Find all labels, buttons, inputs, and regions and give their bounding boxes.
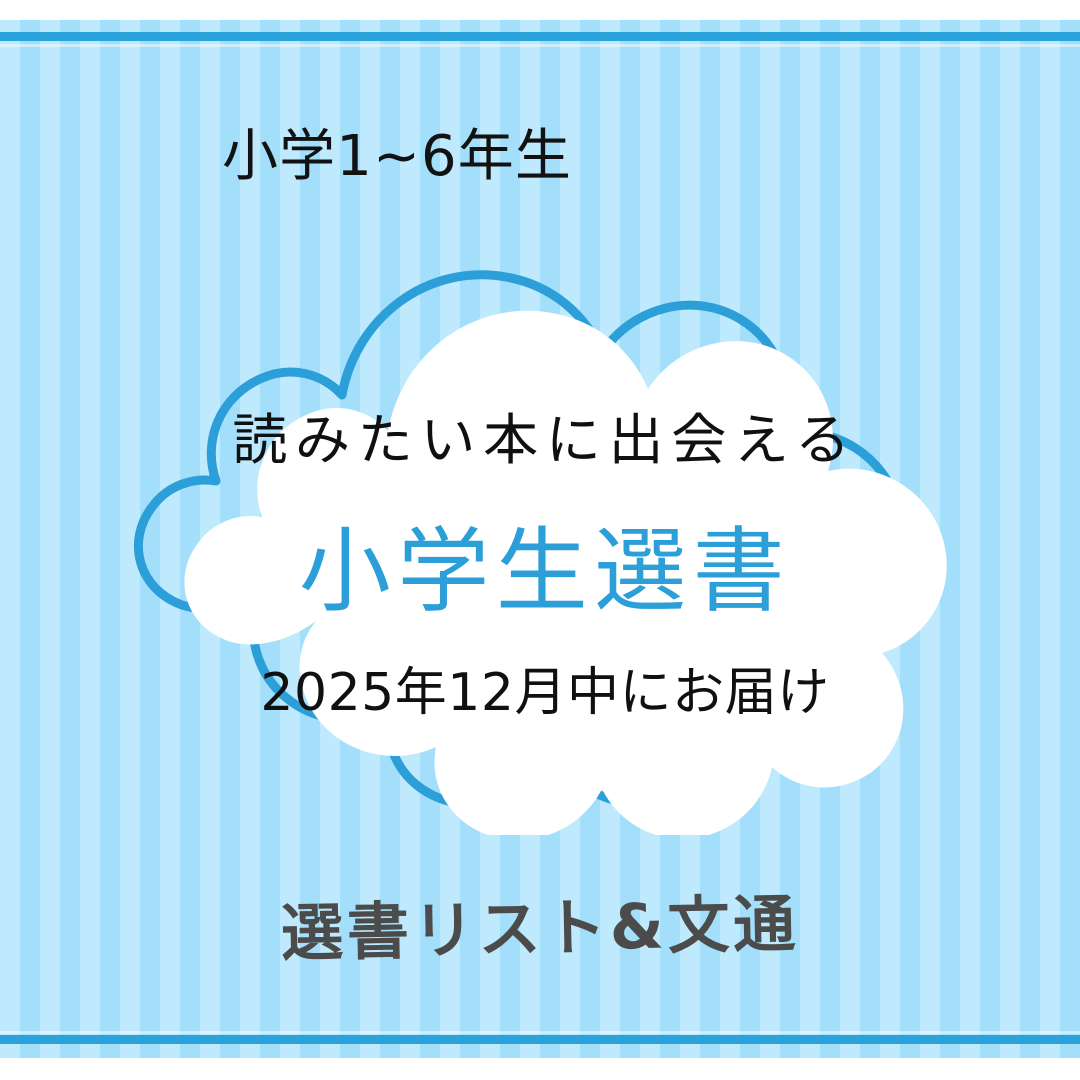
top-accent-hairline — [0, 44, 1080, 47]
bottom-accent-hairline — [0, 1031, 1080, 1034]
grade-range-eyebrow: 小学1~6年生 — [222, 126, 572, 188]
cloud-banner: 読みたい本に出会える 小学生選書 2025年12月中にお届け — [120, 245, 970, 835]
top-accent-rule — [0, 32, 1080, 41]
cloud-graphic — [120, 245, 970, 835]
bottom-accent-rule — [0, 1035, 1080, 1044]
poster-canvas: 小学1~6年生 読みたい本に出会える 小学生選書 2025年12月中にお届け 選… — [0, 0, 1080, 1080]
cloud-fill-icon — [184, 311, 946, 835]
